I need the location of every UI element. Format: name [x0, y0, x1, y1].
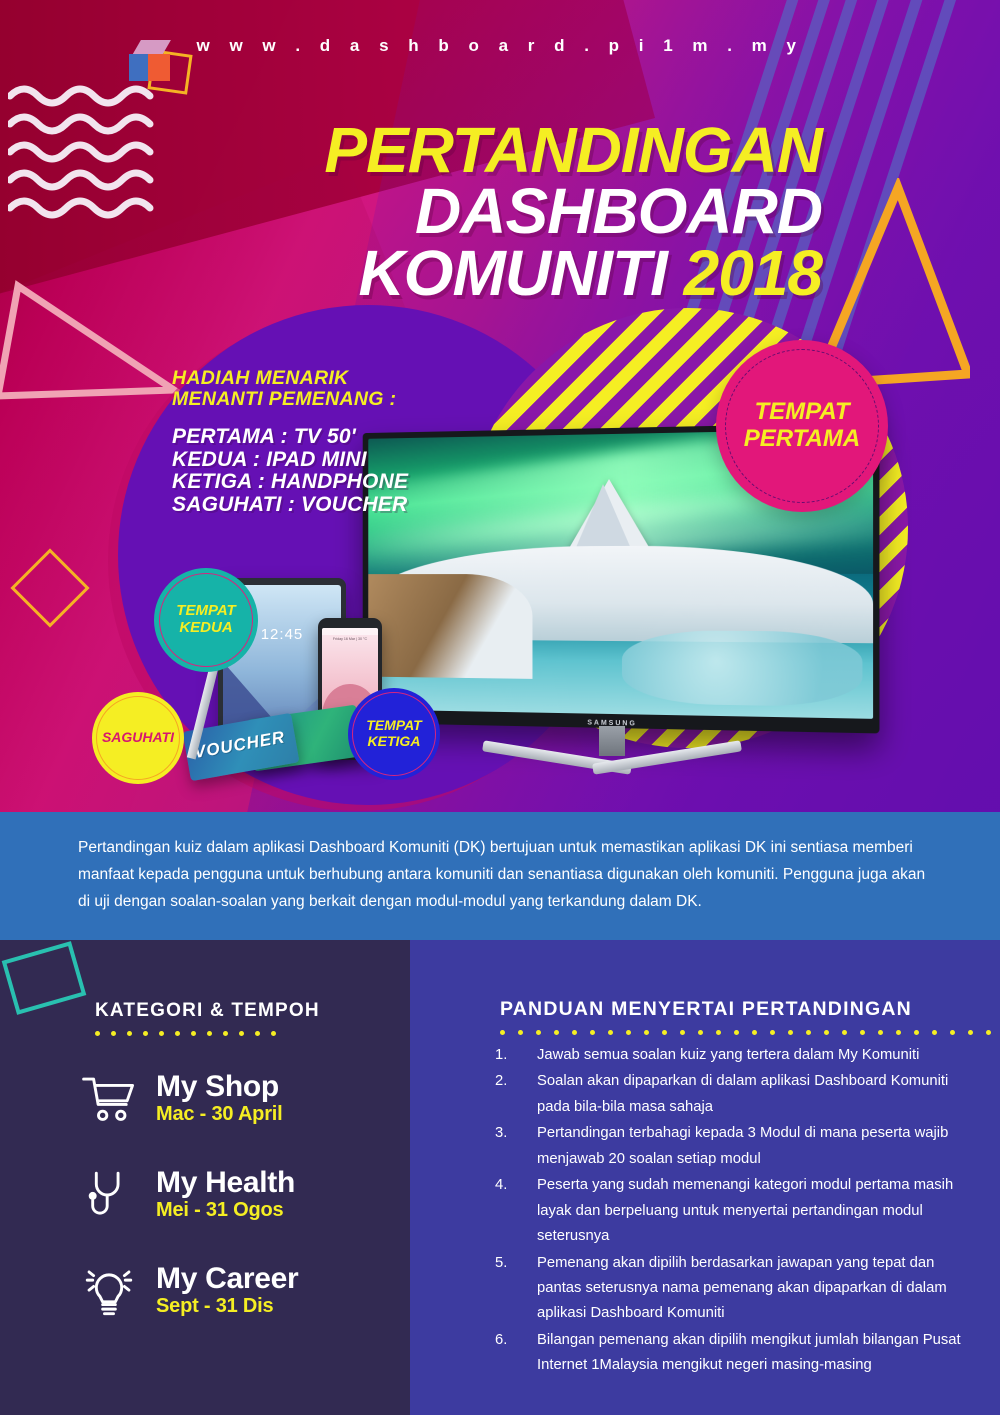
- list-item-number: 4.: [495, 1173, 525, 1198]
- guidelines-header: PANDUAN MENYERTAI PERTANDINGAN: [500, 998, 991, 1035]
- shopping-cart-icon: [80, 1070, 138, 1128]
- prize-item-consolation: Saguhati : Voucher: [172, 494, 432, 517]
- categories-column: KATEGORI & TEMPOH My Shop Mac - 30 April: [0, 940, 410, 1415]
- categories-heading: KATEGORI & TEMPOH: [95, 1000, 320, 1022]
- badge-third-place: TEMPAT KETIGA: [348, 688, 440, 780]
- description-text: Pertandingan kuiz dalam aplikasi Dashboa…: [0, 812, 1000, 915]
- stethoscope-icon: [80, 1166, 138, 1224]
- list-item: 2. Soalan akan dipaparkan di dalam aplik…: [495, 1069, 963, 1120]
- tv-stand: [482, 752, 742, 768]
- website-url: w w w . d a s h b o a r d . p i 1 m . m …: [0, 36, 1000, 56]
- guidelines-column: PANDUAN MENYERTAI PERTANDINGAN 1. Jawab …: [410, 940, 1000, 1415]
- prize-item-second: Kedua : Ipad Mini: [172, 449, 432, 472]
- categories-dotted-divider: [95, 1031, 320, 1036]
- category-name: My Career: [156, 1264, 298, 1295]
- list-item-number: 6.: [495, 1328, 525, 1353]
- list-item: 5. Pemenang akan dipilih berdasarkan jaw…: [495, 1251, 963, 1327]
- list-item: 6. Bilangan pemenang akan dipilih mengik…: [495, 1328, 963, 1379]
- categories-header: KATEGORI & TEMPOH: [95, 1000, 320, 1036]
- category-item-my-career: My Career Sept - 31 Dis: [80, 1262, 298, 1320]
- list-item-text: Soalan akan dipaparkan di dalam aplikasi…: [537, 1073, 948, 1114]
- category-item-my-health: My Health Mei - 31 Ogos: [80, 1166, 295, 1224]
- list-item-number: 3.: [495, 1121, 525, 1146]
- prize-item-third: Ketiga : Handphone: [172, 471, 432, 494]
- badge-consolation: SAGUHATI: [92, 692, 184, 784]
- category-item-my-shop: My Shop Mac - 30 April: [80, 1070, 283, 1128]
- list-item-number: 2.: [495, 1069, 525, 1094]
- badge-second-place: TEMPAT KEDUA: [154, 568, 258, 672]
- list-item: 1. Jawab semua soalan kuiz yang tertera …: [495, 1043, 963, 1068]
- list-item-number: 1.: [495, 1043, 525, 1068]
- category-period: Mei - 31 Ogos: [156, 1199, 295, 1222]
- list-item-text: Bilangan pemenang akan dipilih mengikut …: [537, 1332, 961, 1373]
- title-year: 2018: [684, 237, 822, 309]
- prize-heading-line2: menanti pemenang :: [172, 389, 432, 410]
- badge-first-place: TEMPAT PERTAMA: [716, 340, 888, 512]
- category-period: Sept - 31 Dis: [156, 1295, 298, 1318]
- lightbulb-icon: [80, 1262, 138, 1320]
- list-item-number: 5.: [495, 1251, 525, 1276]
- list-item: 3. Pertandingan terbahagi kepada 3 Modul…: [495, 1121, 963, 1172]
- prize-item-first: Pertama : TV 50': [172, 426, 432, 449]
- voucher-label: VOUCHER: [193, 727, 287, 763]
- title-komuniti: KOMUNITI: [358, 237, 666, 309]
- guidelines-list: 1. Jawab semua soalan kuiz yang tertera …: [495, 1043, 963, 1380]
- prize-list: Hadiah menarik menanti pemenang : Pertam…: [172, 368, 432, 517]
- description-band: Pertandingan kuiz dalam aplikasi Dashboa…: [0, 812, 1000, 940]
- poster-title: PERTANDINGAN DASHBOARD KOMUNITI 2018: [0, 120, 1000, 304]
- bottom-section: KATEGORI & TEMPOH My Shop Mac - 30 April: [0, 940, 1000, 1415]
- guidelines-heading: PANDUAN MENYERTAI PERTANDINGAN: [500, 998, 991, 1021]
- list-item: 4. Peserta yang sudah memenangi kategori…: [495, 1173, 963, 1249]
- category-name: My Health: [156, 1168, 295, 1199]
- guidelines-dotted-divider: [500, 1030, 991, 1035]
- list-item-text: Pemenang akan dipilih berdasarkan jawapa…: [537, 1255, 947, 1322]
- prize-heading-line1: Hadiah menarik: [172, 368, 432, 389]
- list-item-text: Peserta yang sudah memenangi kategori mo…: [537, 1177, 953, 1244]
- category-name: My Shop: [156, 1072, 283, 1103]
- poster-root: w w w . d a s h b o a r d . p i 1 m . m …: [0, 0, 1000, 1415]
- category-period: Mac - 30 April: [156, 1103, 283, 1126]
- hero-section: w w w . d a s h b o a r d . p i 1 m . m …: [0, 0, 1000, 812]
- phone-status-text: Friday 16 Mar | 30 °C: [322, 637, 378, 641]
- list-item-text: Jawab semua soalan kuiz yang tertera dal…: [537, 1047, 919, 1063]
- list-item-text: Pertandingan terbahagi kepada 3 Modul di…: [537, 1125, 948, 1166]
